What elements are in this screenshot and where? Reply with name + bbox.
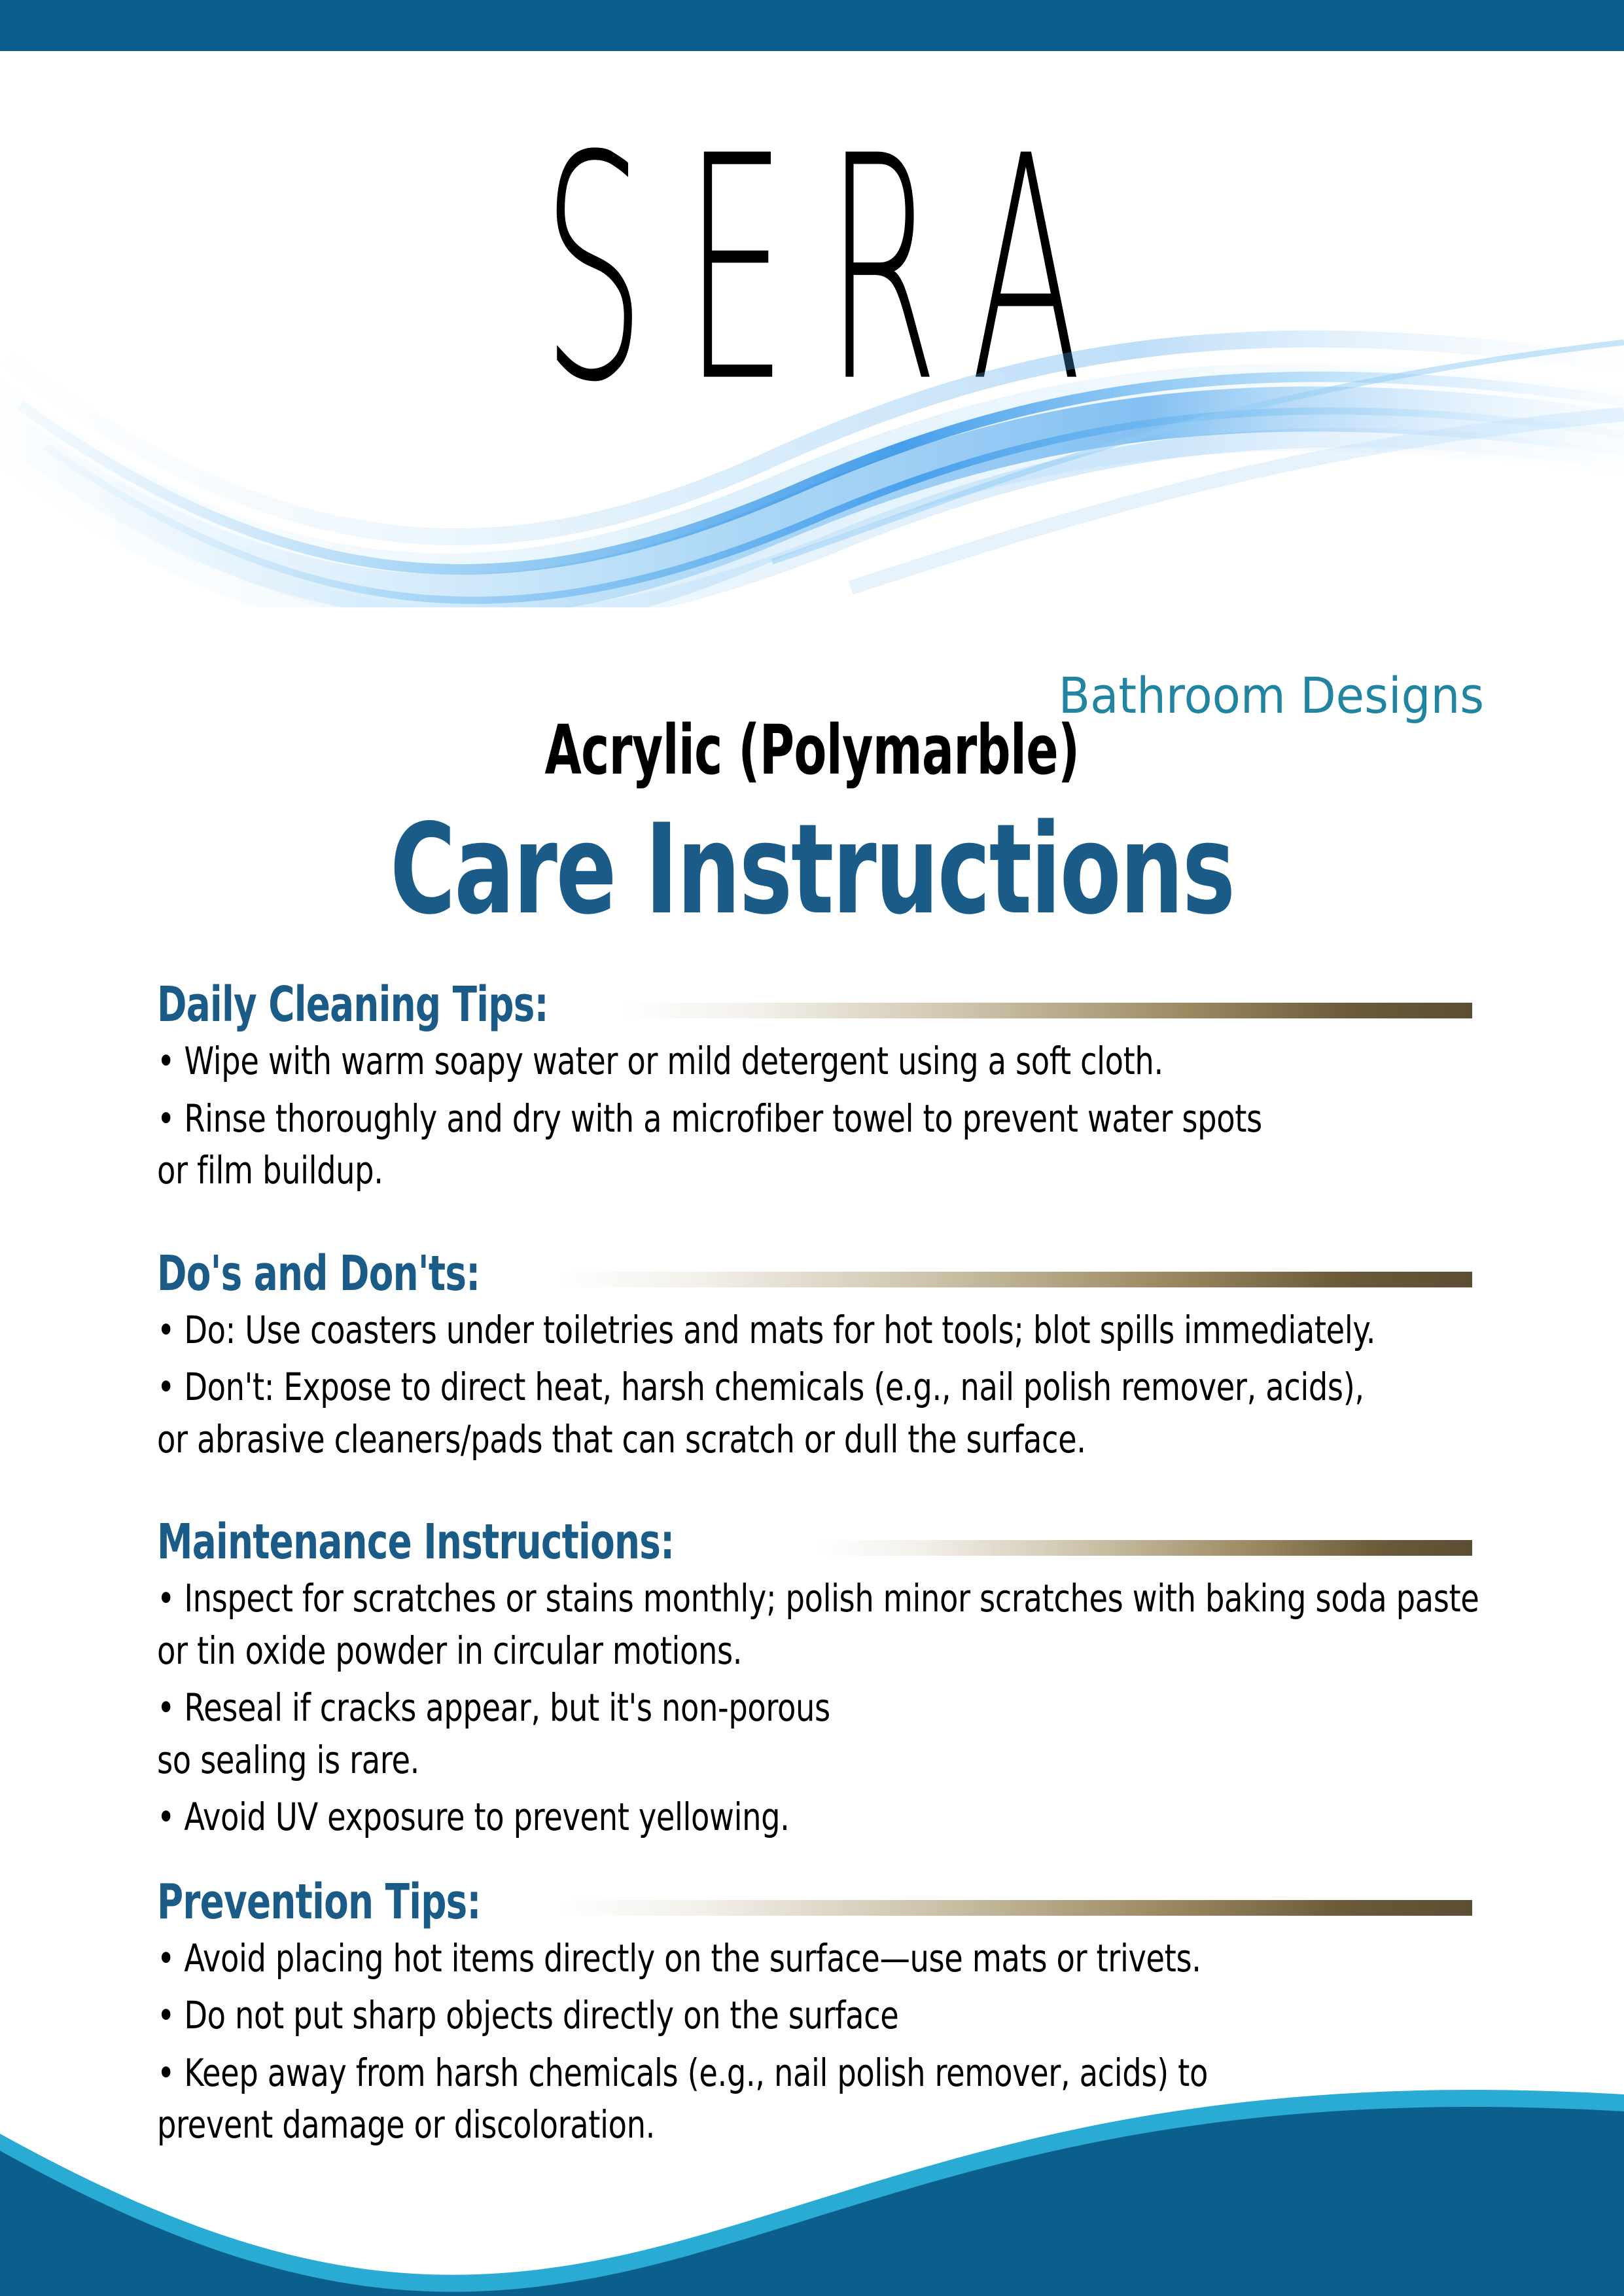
page-title: Care Instructions (227, 797, 1396, 942)
section-daily-cleaning-tips: Daily Cleaning Tips: • Wipe with warm so… (157, 978, 1472, 1193)
bullet-item-continuation: or film buildup. (157, 1149, 1209, 1193)
section-bullets: • Wipe with warm soapy water or mild det… (157, 1040, 1472, 1193)
section-spacer (157, 1475, 1472, 1516)
section-heading: Prevention Tips: (157, 1876, 481, 1928)
poster-page: SERA (0, 0, 1624, 2296)
section-bullets: • Inspect for scratches or stains monthl… (157, 1577, 1472, 1839)
top-accent-bar (0, 0, 1624, 51)
bullet-item: • Rinse thoroughly and dry with a microf… (157, 1098, 1209, 1141)
bullet-item-continuation: or abrasive cleaners/pads that can scrat… (157, 1418, 1209, 1462)
section-heading-row: Prevention Tips: (157, 1876, 1472, 1928)
bullet-item: • Avoid UV exposure to prevent yellowing… (157, 1796, 1209, 1839)
bullet-item-continuation: or tin oxide powder in circular motions. (157, 1630, 1209, 1673)
bullet-item: • Avoid placing hot items directly on th… (157, 1937, 1209, 1981)
bullet-item: • Reseal if cracks appear, but it's non-… (157, 1687, 1209, 1730)
material-subtitle: Acrylic (Polymarble) (243, 710, 1380, 790)
heading-gradient-rule (556, 1272, 1472, 1287)
bullet-item: • Do not put sharp objects directly on t… (157, 1994, 1209, 2037)
instructions-content: Daily Cleaning Tips: • Wipe with warm so… (157, 978, 1472, 2161)
section-spacer (157, 1207, 1472, 1247)
sera-logo-wordmark: SERA (309, 117, 1316, 425)
bullet-item: • Inspect for scratches or stains monthl… (157, 1577, 1209, 1621)
brand-header: SERA (0, 51, 1624, 706)
section-heading-row: Maintenance Instructions: (157, 1516, 1472, 1568)
section-bullets: • Do: Use coasters under toiletries and … (157, 1309, 1472, 1462)
bullet-item: • Do: Use coasters under toiletries and … (157, 1309, 1209, 1352)
section-heading: Daily Cleaning Tips: (157, 978, 548, 1031)
heading-gradient-rule (818, 1540, 1472, 1556)
bullet-item: • Wipe with warm soapy water or mild det… (157, 1040, 1209, 1083)
heading-gradient-rule (556, 1900, 1472, 1916)
section-heading: Do's and Don'ts: (157, 1247, 480, 1300)
section-maintenance-instructions: Maintenance Instructions: • Inspect for … (157, 1516, 1472, 1839)
bullet-item: • Don't: Expose to direct heat, harsh ch… (157, 1366, 1209, 1409)
bullet-item-continuation: so sealing is rare. (157, 1739, 1209, 1782)
heading-gradient-rule (622, 1003, 1472, 1018)
section-spacer (157, 1854, 1472, 1876)
section-heading: Maintenance Instructions: (157, 1516, 674, 1568)
section-dos-and-donts: Do's and Don'ts: • Do: Use coasters unde… (157, 1247, 1472, 1462)
footer-wave-graphic (0, 2073, 1624, 2296)
section-heading-row: Daily Cleaning Tips: (157, 978, 1472, 1031)
section-heading-row: Do's and Don'ts: (157, 1247, 1472, 1300)
